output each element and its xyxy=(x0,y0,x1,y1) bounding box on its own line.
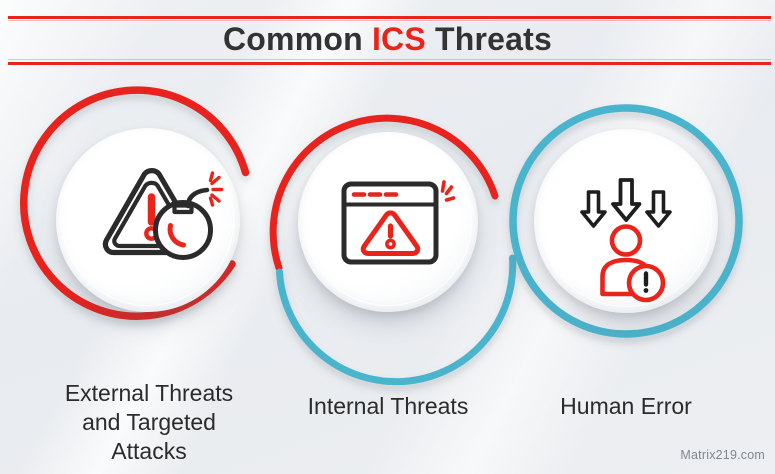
label-line: External Threats xyxy=(10,379,288,408)
watermark: Matrix219.com xyxy=(680,448,765,462)
person-head xyxy=(612,227,640,255)
label-line: Human Error xyxy=(520,392,732,421)
browser-window-warning-icon xyxy=(344,182,454,262)
node-label-external-threats: External Threats and Targeted Attacks xyxy=(10,379,288,466)
arrow-down-middle-icon xyxy=(613,180,640,220)
infographic-canvas: Common ICS Threats xyxy=(0,0,775,474)
arrow-down-left-icon xyxy=(582,192,605,226)
arrow-down-right-icon xyxy=(647,192,670,226)
node-label-human-error: Human Error xyxy=(520,392,732,421)
person-alert-arrows-icon xyxy=(582,180,670,300)
alert-badge-exclamation-dot xyxy=(644,288,649,293)
spark-icon xyxy=(443,182,454,200)
node-label-internal-threats: Internal Threats xyxy=(281,392,495,421)
warning-triangle-bomb-icon xyxy=(105,171,221,258)
label-line: Internal Threats xyxy=(281,392,495,421)
label-line: and Targeted xyxy=(10,408,288,437)
label-line: Attacks xyxy=(10,437,288,466)
spark-icon xyxy=(211,173,222,205)
